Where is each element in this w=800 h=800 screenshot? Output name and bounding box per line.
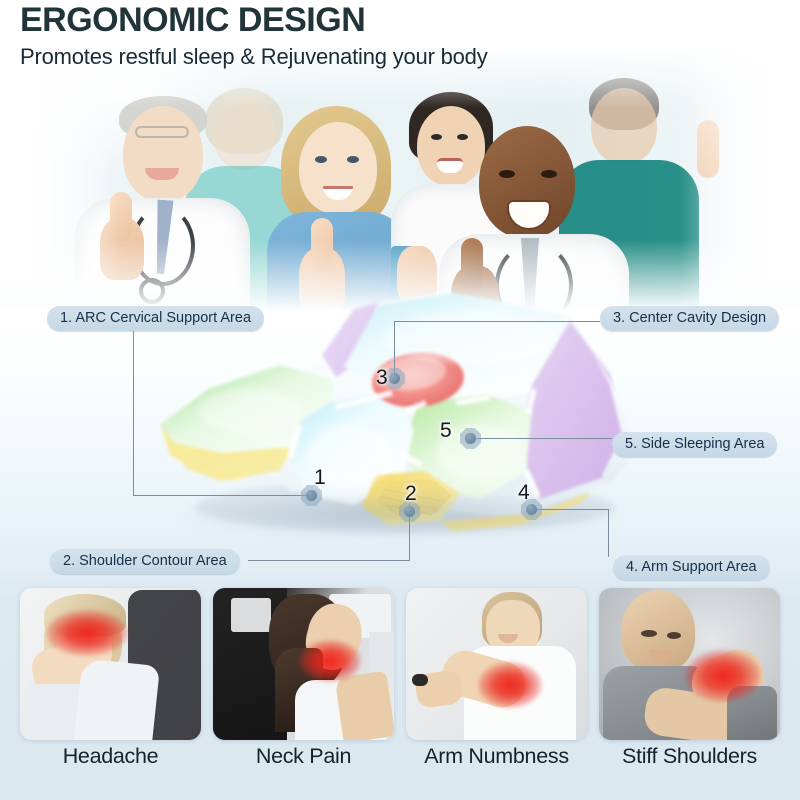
leader-line-4-vertical: [608, 509, 609, 557]
symptom-photo-headache: [20, 588, 201, 740]
symptom-caption-stiff-shoulders: Stiff Shoulders: [599, 744, 780, 769]
page-title: ERGONOMIC DESIGN: [20, 0, 488, 38]
infographic-page: ERGONOMIC DESIGN Promotes restful sleep …: [0, 0, 800, 800]
callout-label-3[interactable]: 3. Center Cavity Design: [600, 306, 779, 331]
symptom-caption-arm-numbness: Arm Numbness: [406, 744, 587, 769]
pain-highlight-neck: [299, 640, 361, 682]
symptom-card-stiff-shoulders[interactable]: [599, 588, 780, 740]
leader-line-4-horizontal-a: [531, 509, 609, 510]
zone-number-3: 3: [376, 366, 388, 390]
symptom-card-headache[interactable]: [20, 588, 201, 740]
pain-highlight-arm: [478, 662, 542, 708]
leader-line-1-horizontal: [133, 495, 311, 496]
pain-highlight-shoulder: [685, 650, 761, 702]
zone-number-1: 1: [314, 466, 326, 490]
page-subtitle: Promotes restful sleep & Rejuvenating yo…: [20, 38, 488, 72]
leader-line-3-horizontal: [394, 321, 600, 322]
callout-label-4[interactable]: 4. Arm Support Area: [613, 555, 770, 580]
zone-number-4: 4: [518, 481, 530, 505]
pain-highlight-head: [46, 610, 128, 656]
symptom-caption-headache: Headache: [20, 744, 201, 769]
callout-label-5[interactable]: 5. Side Sleeping Area: [612, 432, 777, 457]
doctors-hero-photo: [0, 48, 800, 310]
symptom-cards: Headache Neck Pain: [0, 588, 800, 800]
symptom-photo-neck-pain: [213, 588, 394, 740]
symptom-photo-stiff-shoulders: [599, 588, 780, 740]
symptom-caption-neck-pain: Neck Pain: [213, 744, 394, 769]
leader-line-2-horizontal: [248, 560, 410, 561]
header: ERGONOMIC DESIGN Promotes restful sleep …: [20, 0, 488, 72]
callout-label-2[interactable]: 2. Shoulder Contour Area: [50, 549, 240, 574]
zone-number-5: 5: [440, 419, 452, 443]
symptom-card-neck-pain[interactable]: [213, 588, 394, 740]
zone-number-2: 2: [405, 482, 417, 506]
symptom-card-arm-numbness[interactable]: [406, 588, 587, 740]
leader-line-5-horizontal: [472, 438, 612, 439]
symptom-photo-arm-numbness: [406, 588, 587, 740]
callout-label-1[interactable]: 1. ARC Cervical Support Area: [47, 306, 264, 331]
leader-line-1-vertical: [133, 330, 134, 496]
